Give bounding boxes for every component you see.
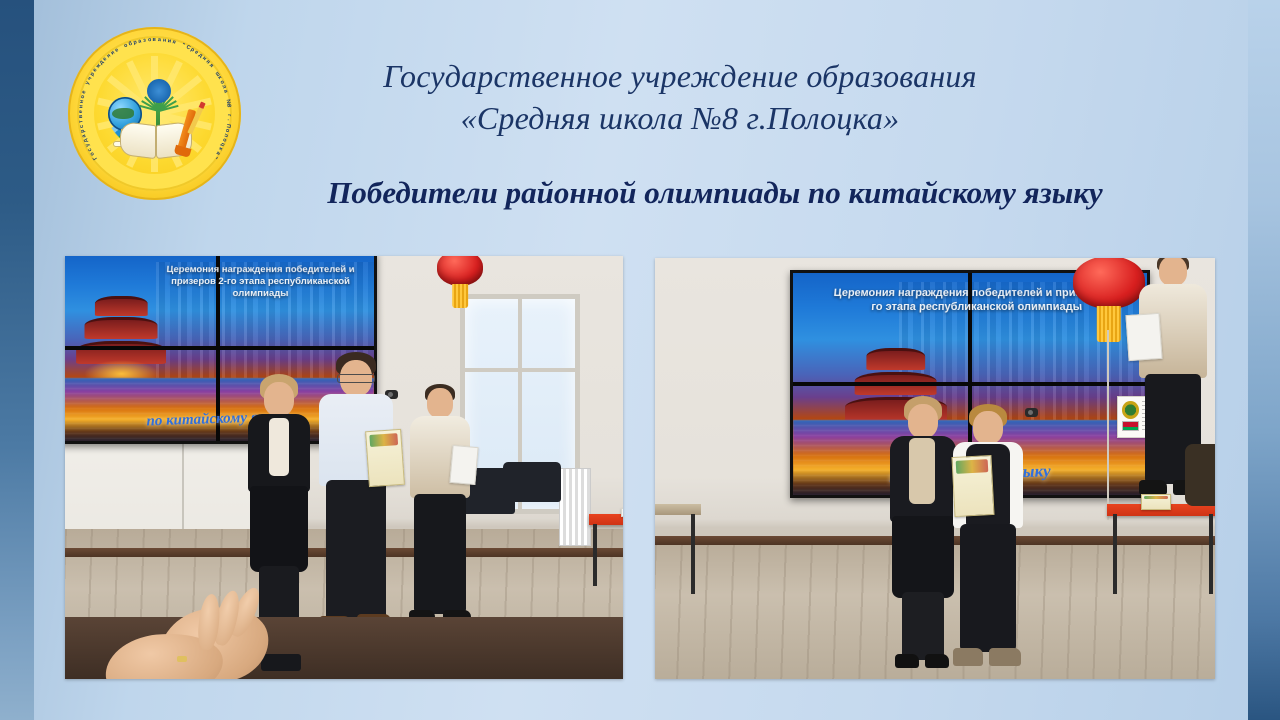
turtleneck [909,438,935,504]
emblem-ring-char: о [147,37,151,43]
emblem-ring-char: р [79,128,86,133]
emblem-ring-char: 8 [225,103,231,107]
head [908,404,938,438]
paper-sheet [449,445,478,485]
emblem-ring-char: з [142,37,145,43]
cornflower-icon [147,79,171,103]
paper-sheet [1125,313,1162,361]
institution-name-line-2: «Средняя школа №8 г.Полоцка» [260,97,1100,139]
diploma-certificate [951,455,994,517]
emblem-ring-char: с [78,124,84,128]
photo-left-award-ceremony: Церемония награждения победителей и приз… [65,256,623,679]
shoe [989,648,1021,666]
desk-leg [1113,514,1117,594]
left-accent-band [0,0,34,720]
emblem-ring-char: н [162,37,166,43]
emblem-ring-char: о [123,42,128,49]
head [1159,258,1187,286]
trousers [414,494,466,614]
emblem-ring-char: П [224,123,231,128]
eyeglasses-icon [337,374,375,383]
man-in-beige-sweater [405,384,475,656]
head [427,388,453,418]
right-accent-band [1248,0,1280,720]
emblem-ring-char: у [84,142,91,147]
emblem-ring-char: д [82,137,89,142]
chinese-lantern-decoration [437,256,483,308]
emblem-ring-char: л [222,132,229,137]
lantern-body [437,256,483,286]
lantern-tassel [1097,306,1121,342]
diploma-certificate [365,429,405,487]
ring [177,656,187,662]
lantern-tassel [452,284,468,308]
emblem-ring-char: а [81,133,88,138]
emblem-ring-char: о [79,94,86,99]
seated-student [621,454,623,594]
smartphone-on-table [261,654,301,671]
emblem-ring-char: е [80,89,87,94]
emblem-ring-char: и [167,38,171,45]
olympiad-winner-student [947,404,1029,679]
diploma-on-desk [1141,494,1171,510]
desk-leg [1209,514,1213,594]
emblem-ring-char: т [78,120,84,123]
emblem-ring-char: а [137,38,141,44]
emblem-inner-disc [94,53,215,174]
lantern-pole [1107,330,1109,520]
presentation-slide: Государственное учреждение образования "… [0,0,1280,720]
trousers [326,480,386,622]
chair [503,462,561,502]
photo-right-award-winner: Церемония награждения победителей и приз… [655,258,1215,679]
emblem-ring-char: г [225,114,231,116]
skirt [250,486,308,572]
head [973,411,1003,444]
head [264,382,294,416]
skirt [892,516,954,598]
emblem-ring-char: в [77,114,83,117]
boot-toe [925,654,949,668]
radiator [559,468,591,546]
emblem-ring-char: в [153,37,156,43]
institution-name-line-1: Государственное учреждение образования [260,55,1100,97]
blouse [269,418,289,476]
boot-toe [895,654,919,668]
emblem-ring-char: р [132,39,137,46]
emblem-ring-char: е [77,110,83,113]
slide-subtitle: Победители районной олимпиады по китайск… [210,173,1220,213]
shoe [953,648,983,666]
trousers [960,524,1016,652]
screen-headline-text: Церемония награждения победителей и приз… [154,265,366,301]
emblem-ring-char: а [157,37,160,43]
desk-leg [691,514,695,594]
emblem-ring-char: о [223,128,230,133]
emblem-ring-char: " [180,42,185,49]
boots [902,592,944,660]
slide-header: Государственное учреждение образования «… [260,55,1100,139]
book-page-left [120,121,156,159]
emblem-ring-char: . [225,118,231,120]
emblem-ring-char: б [127,40,132,47]
desk-leg [593,524,597,586]
chair [1185,444,1215,506]
shoe [1139,480,1167,495]
emblem-ring-char: н [78,99,84,103]
emblem-ring-char: н [78,104,84,108]
emblem-ring-char: я [171,39,176,46]
